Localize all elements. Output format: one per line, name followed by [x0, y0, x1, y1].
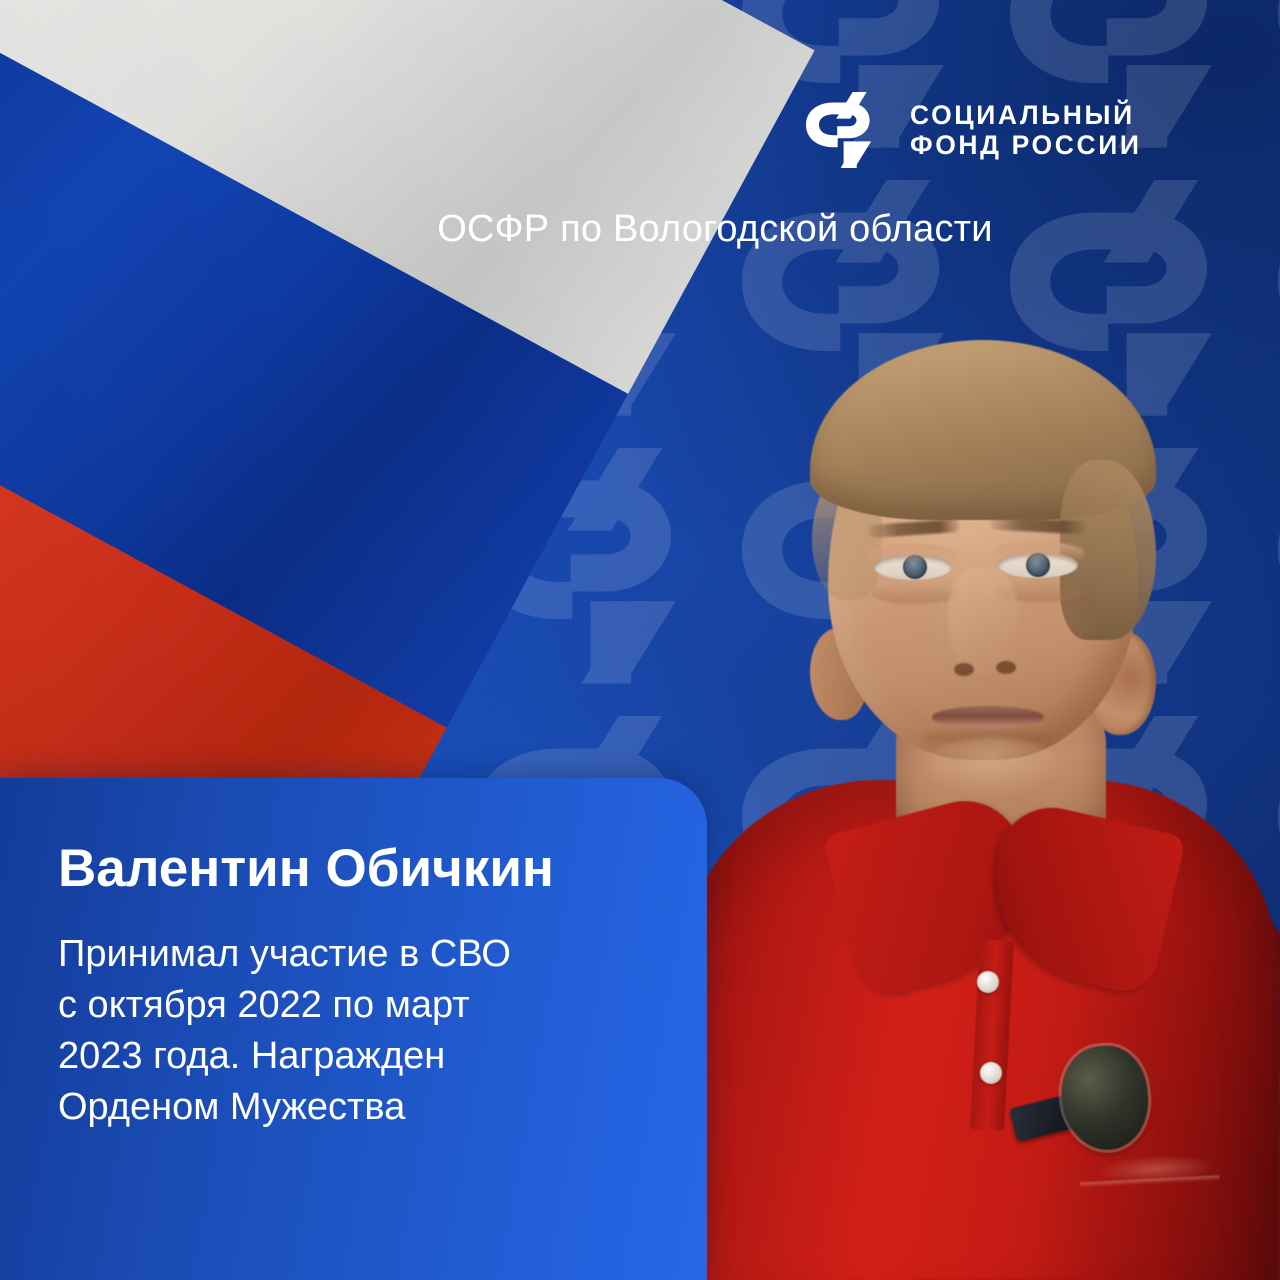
sfr-logo: СОЦИАЛЬНЫЙ ФОНД РОССИИ	[806, 92, 1142, 168]
chin	[916, 738, 1066, 798]
nostril-right	[996, 661, 1016, 674]
veteran-portrait-photo	[660, 270, 1280, 1280]
eyelid-left	[868, 544, 958, 564]
description-line-3: 2023 года. Награжден	[58, 1031, 638, 1082]
shirt-button-bottom	[980, 1062, 1002, 1084]
person-name: Валентин Обичкин	[58, 840, 647, 897]
description-line-1: Принимал участие в СВО	[58, 929, 638, 980]
nose	[948, 568, 1018, 676]
poster-canvas: СОЦИАЛЬНЫЙ ФОНД РОССИИ ОСФР по Вологодск…	[0, 0, 1280, 1280]
sfr-logo-wordmark: СОЦИАЛЬНЫЙ ФОНД РОССИИ	[910, 100, 1142, 160]
nostril-left	[954, 663, 974, 676]
organization-title: ОСФР по Вологодской области	[0, 208, 1280, 251]
person-description: Принимал участие в СВО с октября 2022 по…	[58, 929, 638, 1133]
chest-emblem	[1078, 1146, 1222, 1227]
description-line-4: Орденом Мужества	[58, 1082, 638, 1133]
logo-word-line1: СОЦИАЛЬНЫЙ	[910, 100, 1142, 130]
mouth	[932, 706, 1044, 728]
logo-word-line2: ФОНД РОССИИ	[910, 130, 1142, 160]
eyelid-right	[992, 542, 1084, 562]
description-line-2: с октября 2022 по март	[58, 980, 638, 1031]
person-info-card: Валентин Обичкин Принимал участие в СВО …	[0, 778, 707, 1280]
shirt-button-top	[977, 971, 999, 993]
under-eye-left	[872, 584, 958, 604]
sfr-monogram-icon	[806, 92, 888, 168]
